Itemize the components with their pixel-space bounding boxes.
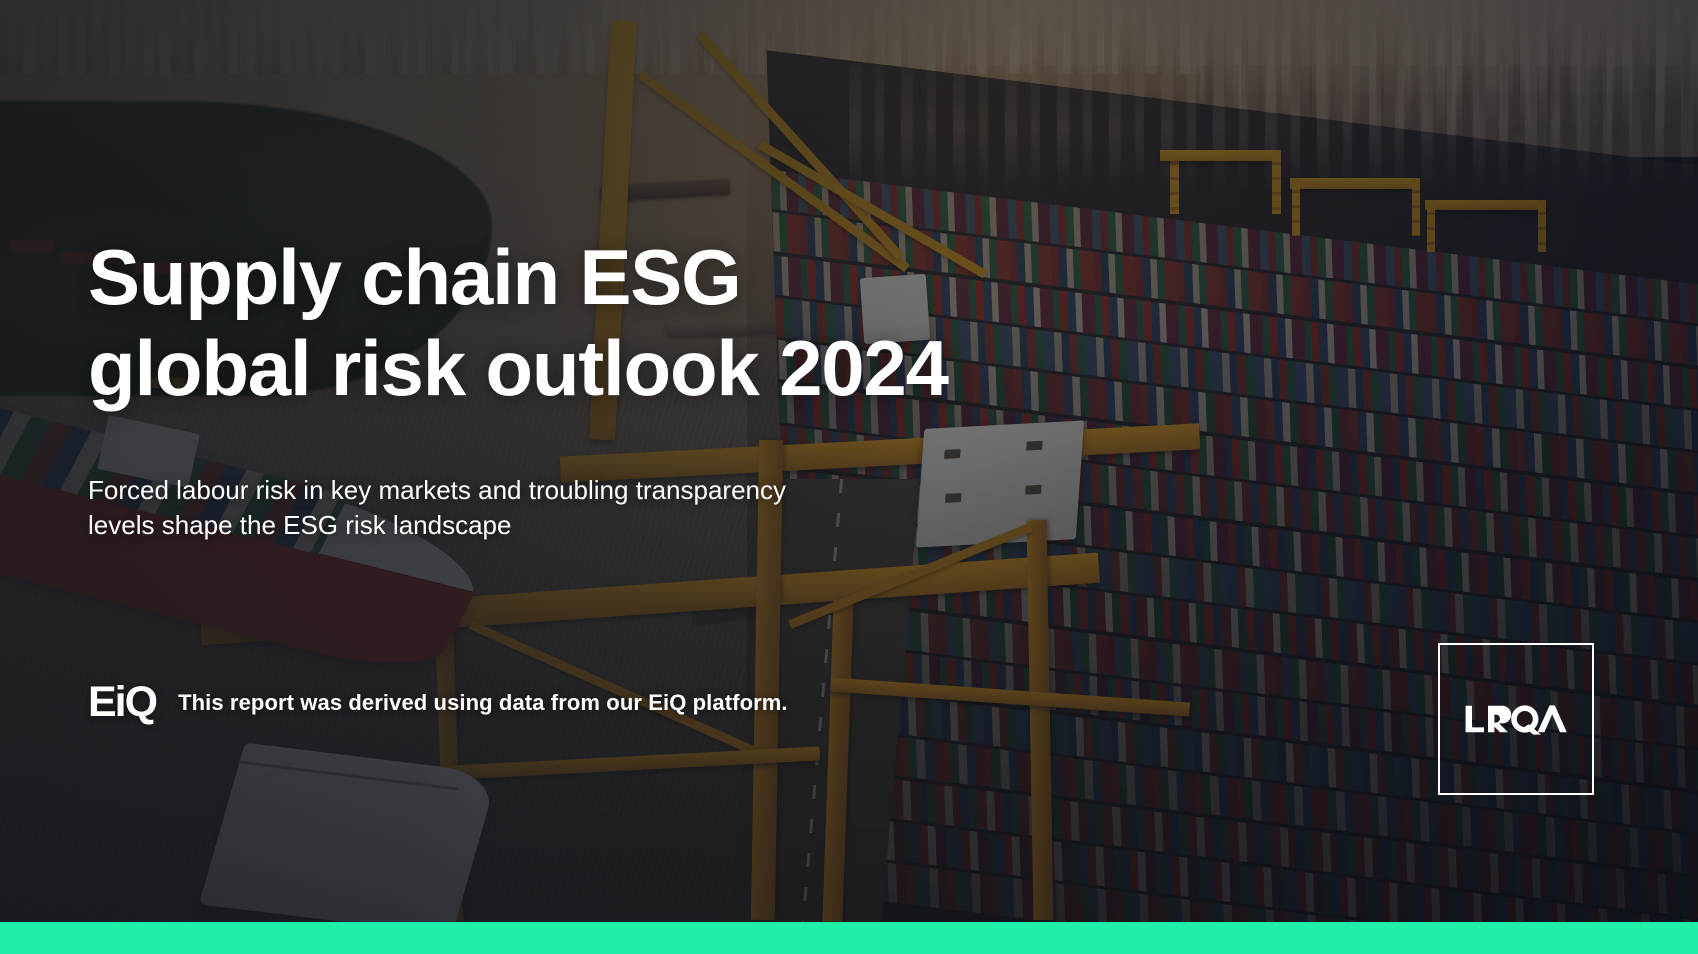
lrqa-wordmark-icon [1464, 702, 1568, 736]
cover-content: Supply chain ESG global risk outlook 202… [0, 0, 1698, 922]
page-title-line-1: Supply chain ESG [88, 232, 1068, 323]
page-title: Supply chain ESG global risk outlook 202… [88, 232, 1068, 415]
page-subtitle-line-1: Forced labour risk in key markets and tr… [88, 473, 918, 508]
page-subtitle: Forced labour risk in key markets and tr… [88, 473, 918, 544]
page-title-line-2: global risk outlook 2024 [88, 323, 1068, 414]
page-subtitle-line-2: levels shape the ESG risk landscape [88, 508, 918, 543]
lrqa-logo [1438, 643, 1594, 795]
eiq-attribution: EiQ This report was derived using data f… [88, 681, 788, 724]
eiq-logo: EiQ [88, 681, 156, 724]
accent-bar [0, 922, 1698, 954]
eiq-caption: This report was derived using data from … [178, 690, 788, 716]
report-cover: Supply chain ESG global risk outlook 202… [0, 0, 1698, 954]
